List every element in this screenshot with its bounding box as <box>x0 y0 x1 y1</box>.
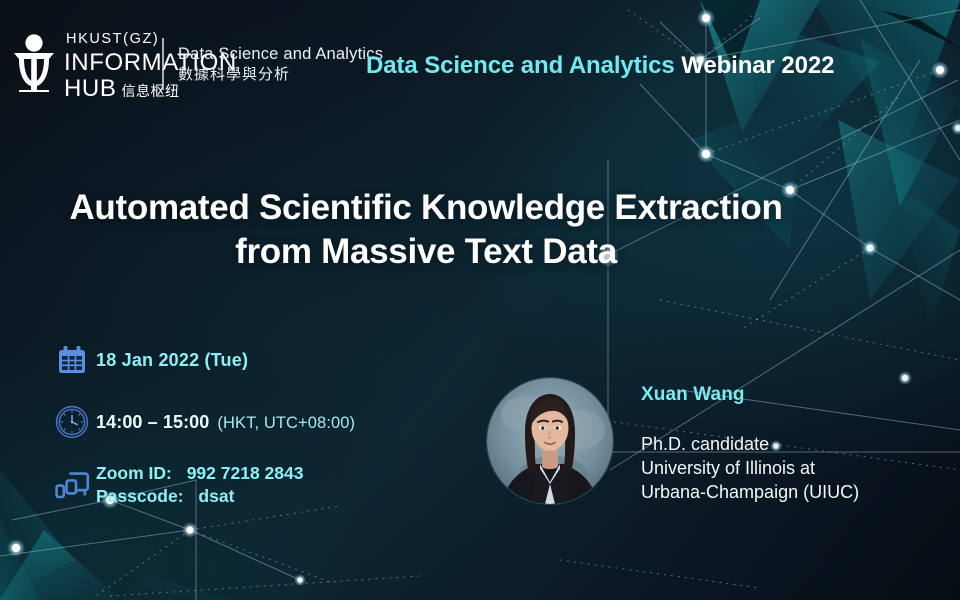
zoom-credentials: Zoom ID: 992 7218 2843 Passcode: dsat <box>96 462 304 508</box>
event-details: 18 Jan 2022 (Tue) <box>48 338 478 526</box>
event-date-value: 18 Jan 2022 (Tue) <box>96 350 248 371</box>
speaker-block: Xuan Wang Ph.D. candidate University of … <box>487 378 859 504</box>
department-name: Data Science and Analytics 數據科學與分析 <box>178 44 383 84</box>
banner-highlight-text: Data Science and Analytics <box>366 52 675 79</box>
speaker-affiliation: Ph.D. candidate University of Illinois a… <box>641 432 859 504</box>
calendar-icon-wrap <box>48 338 96 382</box>
banner-rest-text: Webinar 2022 <box>681 52 834 79</box>
logo-hub-chinese: 信息枢纽 <box>121 84 179 98</box>
department-name-cn: 數據科學與分析 <box>178 65 383 84</box>
poster-header: HKUST(GZ) INFORMATION HUB 信息枢纽 Data Scie… <box>0 0 960 120</box>
zoom-id-value: 992 7218 2843 <box>187 463 304 483</box>
department-name-en: Data Science and Analytics <box>178 44 383 65</box>
event-date-row: 18 Jan 2022 (Tue) <box>48 338 478 382</box>
speaker-affiliation-line3: Urbana-Champaign (UIUC) <box>641 480 859 504</box>
webinar-poster: HKUST(GZ) INFORMATION HUB 信息枢纽 Data Scie… <box>0 0 960 600</box>
hkust-gz-emblem-icon <box>8 34 60 94</box>
logo-hub-text: HUB <box>64 77 116 101</box>
talk-title-line2: from Massive Text Data <box>0 230 852 274</box>
clock-icon <box>55 405 89 439</box>
event-time-value: 14:00 – 15:00(HKT, UTC+08:00) <box>96 412 355 433</box>
speaker-info: Xuan Wang Ph.D. candidate University of … <box>641 378 859 504</box>
calendar-icon <box>56 344 88 376</box>
event-time-range: 14:00 – 15:00 <box>96 412 209 432</box>
speaker-affiliation-line1: Ph.D. candidate <box>641 432 859 456</box>
zoom-id-label: Zoom ID: <box>96 462 172 485</box>
speaker-portrait <box>487 378 613 504</box>
zoom-passcode-label: Passcode: <box>96 485 184 508</box>
zoom-details-row: Zoom ID: 992 7218 2843 Passcode: dsat <box>48 462 478 508</box>
speaker-portrait-image <box>487 378 613 504</box>
zoom-devices-icon <box>54 470 90 502</box>
clock-icon-wrap <box>48 400 96 444</box>
zoom-icon-wrap <box>48 464 96 508</box>
zoom-passcode-line: Passcode: dsat <box>96 485 304 508</box>
zoom-passcode-value: dsat <box>198 486 234 506</box>
talk-title: Automated Scientific Knowledge Extractio… <box>0 186 852 274</box>
event-timezone: (HKT, UTC+08:00) <box>217 414 355 432</box>
header-divider <box>162 38 164 90</box>
talk-title-line1: Automated Scientific Knowledge Extractio… <box>0 186 852 230</box>
speaker-name: Xuan Wang <box>641 384 859 406</box>
webinar-banner-title: Data Science and Analytics Webinar 2022 <box>366 52 834 80</box>
speaker-affiliation-line2: University of Illinois at <box>641 456 859 480</box>
zoom-id-line: Zoom ID: 992 7218 2843 <box>96 462 304 485</box>
event-time-row: 14:00 – 15:00(HKT, UTC+08:00) <box>48 400 478 444</box>
